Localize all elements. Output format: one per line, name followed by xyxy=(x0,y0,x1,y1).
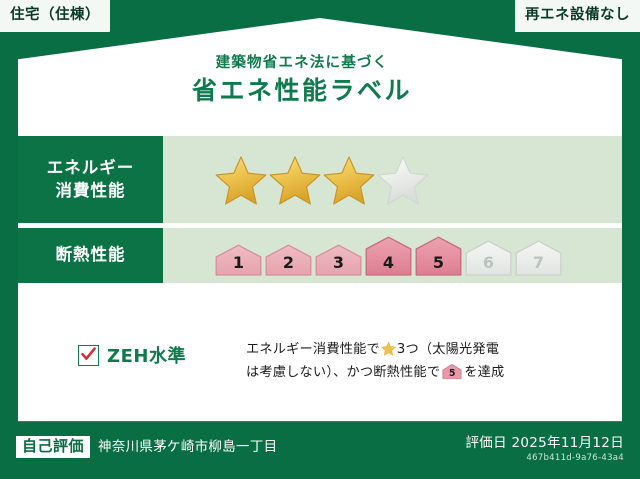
star-icon-filled xyxy=(323,155,375,205)
insulation-level-1: 1 xyxy=(215,244,262,276)
footer: 自己評価 神奈川県茅ケ崎市柳島一丁目 評価日 2025年11月12日 467b4… xyxy=(0,421,640,479)
row-insulation-label: 断熱性能 xyxy=(18,228,163,283)
insulation-level-4: 4 xyxy=(365,236,412,276)
row-energy-label-line1: エネルギー xyxy=(47,158,135,177)
title-subtitle: 建築物省エネ法に基づく xyxy=(0,55,604,72)
star-icon-filled xyxy=(269,155,321,205)
zeh-desc-part1: エネルギー消費性能で xyxy=(246,342,380,357)
row-energy-label: エネルギー 消費性能 xyxy=(18,136,163,223)
insulation-level-2: 2 xyxy=(265,244,312,276)
row-energy-performance: エネルギー 消費性能 xyxy=(18,136,622,223)
insulation-level-3: 3 xyxy=(315,244,362,276)
tag-building-type: 住宅（住棟） xyxy=(0,0,110,32)
checkbox-icon[interactable] xyxy=(78,345,99,366)
insulation-level-number: 1 xyxy=(215,255,262,271)
insulation-level-scale: 1234567 xyxy=(215,236,562,276)
insulation-level-5: 5 xyxy=(415,236,462,276)
zeh-desc-part2: 3つ（太陽光発電 xyxy=(397,342,499,357)
insulation-level-number: 7 xyxy=(515,255,562,271)
row-energy-label-line2: 消費性能 xyxy=(56,181,126,200)
row-energy-value xyxy=(163,136,622,223)
self-evaluation-badge: 自己評価 xyxy=(16,436,90,458)
insulation-level-number: 6 xyxy=(465,255,512,271)
footer-left-group: 自己評価 神奈川県茅ケ崎市柳島一丁目 xyxy=(16,435,277,458)
page-title: 省エネ性能ラベル xyxy=(0,75,604,106)
insulation-level-7: 7 xyxy=(515,240,562,276)
zeh-check-group[interactable]: ZEH水準 xyxy=(18,336,246,368)
evaluation-id: 467b411d-9a76-43a4 xyxy=(465,453,624,463)
insulation-level-6: 6 xyxy=(465,240,512,276)
zeh-desc-part4: を達成 xyxy=(464,365,504,380)
zeh-label: ZEH水準 xyxy=(107,342,186,368)
star-icon-empty xyxy=(377,155,429,205)
insulation-level-number: 4 xyxy=(365,255,412,271)
zeh-description: エネルギー消費性能で 3つ（太陽光発電 は考慮しない）、かつ断熱性能で 5を達成 xyxy=(246,336,622,384)
zeh-desc-part3: は考慮しない）、かつ断熱性能で xyxy=(246,365,440,380)
footer-divider xyxy=(18,421,622,422)
tag-renewable-energy: 再エネ設備なし xyxy=(515,0,640,32)
star-icon-filled xyxy=(215,155,267,205)
insulation-level-number: 3 xyxy=(315,255,362,271)
insulation-badge-inline: 5 xyxy=(442,364,462,379)
zeh-block: ZEH水準 エネルギー消費性能で 3つ（太陽光発電 は考慮しない）、かつ断熱性能… xyxy=(18,336,622,384)
property-address: 神奈川県茅ケ崎市柳島一丁目 xyxy=(98,435,277,455)
star-rating xyxy=(215,155,429,205)
footer-right-group: 評価日 2025年11月12日 467b411d-9a76-43a4 xyxy=(465,431,624,463)
insulation-level-number: 2 xyxy=(265,255,312,271)
energy-performance-label: 住宅（住棟） 再エネ設備なし 建築物省エネ法に基づく 省エネ性能ラベル エネルギ… xyxy=(0,0,640,479)
performance-rows: エネルギー 消費性能 断熱性能 1234567 xyxy=(18,136,622,288)
insulation-level-number: 5 xyxy=(415,255,462,271)
row-insulation-performance: 断熱性能 1234567 xyxy=(18,228,622,283)
evaluation-date: 評価日 2025年11月12日 xyxy=(465,431,624,451)
insulation-badge-inline-num: 5 xyxy=(442,369,462,379)
row-insulation-value: 1234567 xyxy=(163,228,622,283)
star-icon-inline xyxy=(381,341,396,356)
title-block: 建築物省エネ法に基づく 省エネ性能ラベル xyxy=(0,55,604,107)
